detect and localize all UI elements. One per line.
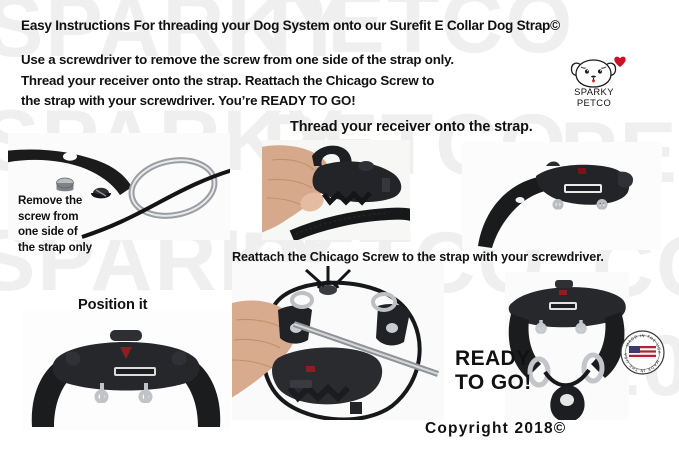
strap-hole-icon <box>63 152 77 160</box>
ready-to-go-illustration <box>505 272 629 420</box>
step-photo-ready-to-go <box>505 272 629 420</box>
ready-line-1: READY <box>455 347 532 371</box>
heading-position-it: Position it <box>78 297 147 313</box>
receiver-on-strap-illustration <box>462 142 662 250</box>
contact-point-icon <box>598 200 606 208</box>
intro-line-2: Thread your receiver onto the strap. Rea… <box>21 71 454 92</box>
heading-reattach-screw: Reattach the Chicago Screw to the strap … <box>232 250 604 264</box>
logo-label-line-2: PETCO <box>561 98 627 109</box>
dog-eye-left-icon <box>585 69 589 73</box>
reattach-screw-illustration <box>232 262 444 420</box>
instruction-sheet: SPARKY SPARKY SPARKY PETCO PETCO PETCO P… <box>0 0 679 450</box>
cord-splitter-icon <box>319 285 337 295</box>
dog-eye-right-icon <box>598 69 602 73</box>
intro-line-1: Use a screwdriver to remove the screw fr… <box>21 50 454 71</box>
antenna-cap-icon <box>110 330 142 341</box>
indicator-light-icon <box>559 290 567 295</box>
usa-flag-icon <box>629 346 656 359</box>
contact-point-icon <box>554 200 562 208</box>
step-photo-receiver-on-strap <box>462 142 662 250</box>
copyright-notice: Copyright 2018© <box>425 420 566 438</box>
sparky-petco-logo: SPARKY PETCO <box>561 56 627 108</box>
heart-icon <box>613 55 627 68</box>
ready-line-2: TO GO! <box>455 371 532 395</box>
logo-label: SPARKY PETCO <box>561 87 627 108</box>
logo-label-line-1: SPARKY <box>561 87 627 98</box>
position-it-illustration <box>22 311 230 430</box>
caption-remove-screw: Remove the screw from one side of the st… <box>18 193 92 255</box>
caption-line-1: Remove the <box>18 193 92 209</box>
caption-line-3: one side of <box>18 224 92 240</box>
chicago-screw-icon <box>386 323 398 333</box>
made-in-usa-badge: MADE IN THE USA MADE IN THE USA <box>620 330 665 375</box>
step-photo-position-it <box>22 311 230 430</box>
intro-paragraph: Use a screwdriver to remove the screw fr… <box>21 50 454 112</box>
made-in-usa-flag-badge-icon: MADE IN THE USA MADE IN THE USA <box>620 330 665 375</box>
page-title: Easy Instructions For threading your Dog… <box>21 18 560 33</box>
caption-line-4: the strap only <box>18 240 92 256</box>
intro-line-3: the strap with your screwdriver. You’re … <box>21 91 454 112</box>
indicator-light-icon <box>306 366 315 372</box>
heading-thread-receiver: Thread your receiver onto the strap. <box>290 119 533 135</box>
step-photo-thread-receiver <box>262 140 410 240</box>
indicator-light-icon <box>578 168 586 174</box>
thread-receiver-illustration <box>262 140 410 240</box>
ready-to-go-text: READY TO GO! <box>455 347 532 395</box>
step-photo-reattach-screw <box>232 262 444 420</box>
strap-hole-icon <box>516 197 525 203</box>
caption-line-2: screw from <box>18 209 92 225</box>
